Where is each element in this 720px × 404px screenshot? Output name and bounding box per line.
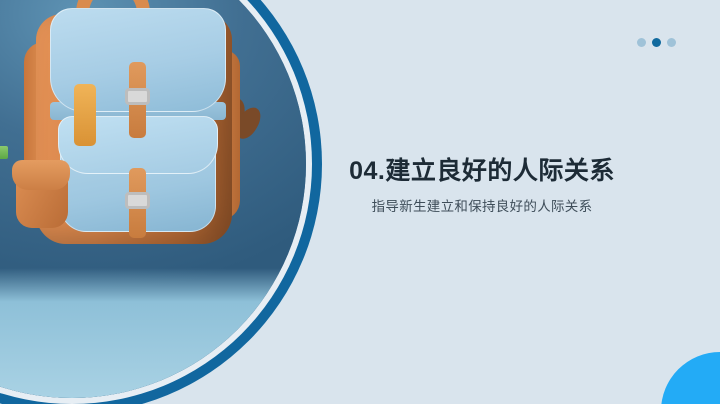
section-title: 04.建立良好的人际关系 bbox=[332, 156, 632, 186]
dot-1-icon bbox=[637, 38, 646, 47]
dot-2-icon bbox=[652, 38, 661, 47]
decor-corner-circle bbox=[661, 352, 720, 404]
backpack-buckle bbox=[125, 88, 150, 105]
decor-dots bbox=[637, 38, 676, 47]
section-heading-block: 04.建立良好的人际关系 指导新生建立和保持良好的人际关系 bbox=[332, 156, 632, 215]
backpack-buckle bbox=[125, 192, 150, 209]
backpack-tag bbox=[74, 84, 96, 146]
section-subtitle: 指导新生建立和保持良好的人际关系 bbox=[332, 195, 632, 215]
slide: 04.建立良好的人际关系 指导新生建立和保持良好的人际关系 bbox=[0, 0, 720, 404]
backpack-side-pocket-flap bbox=[12, 160, 70, 190]
book-item bbox=[0, 146, 8, 159]
dot-3-icon bbox=[667, 38, 676, 47]
backpack-photo bbox=[0, 0, 306, 398]
photo-desk-surface bbox=[0, 268, 306, 398]
